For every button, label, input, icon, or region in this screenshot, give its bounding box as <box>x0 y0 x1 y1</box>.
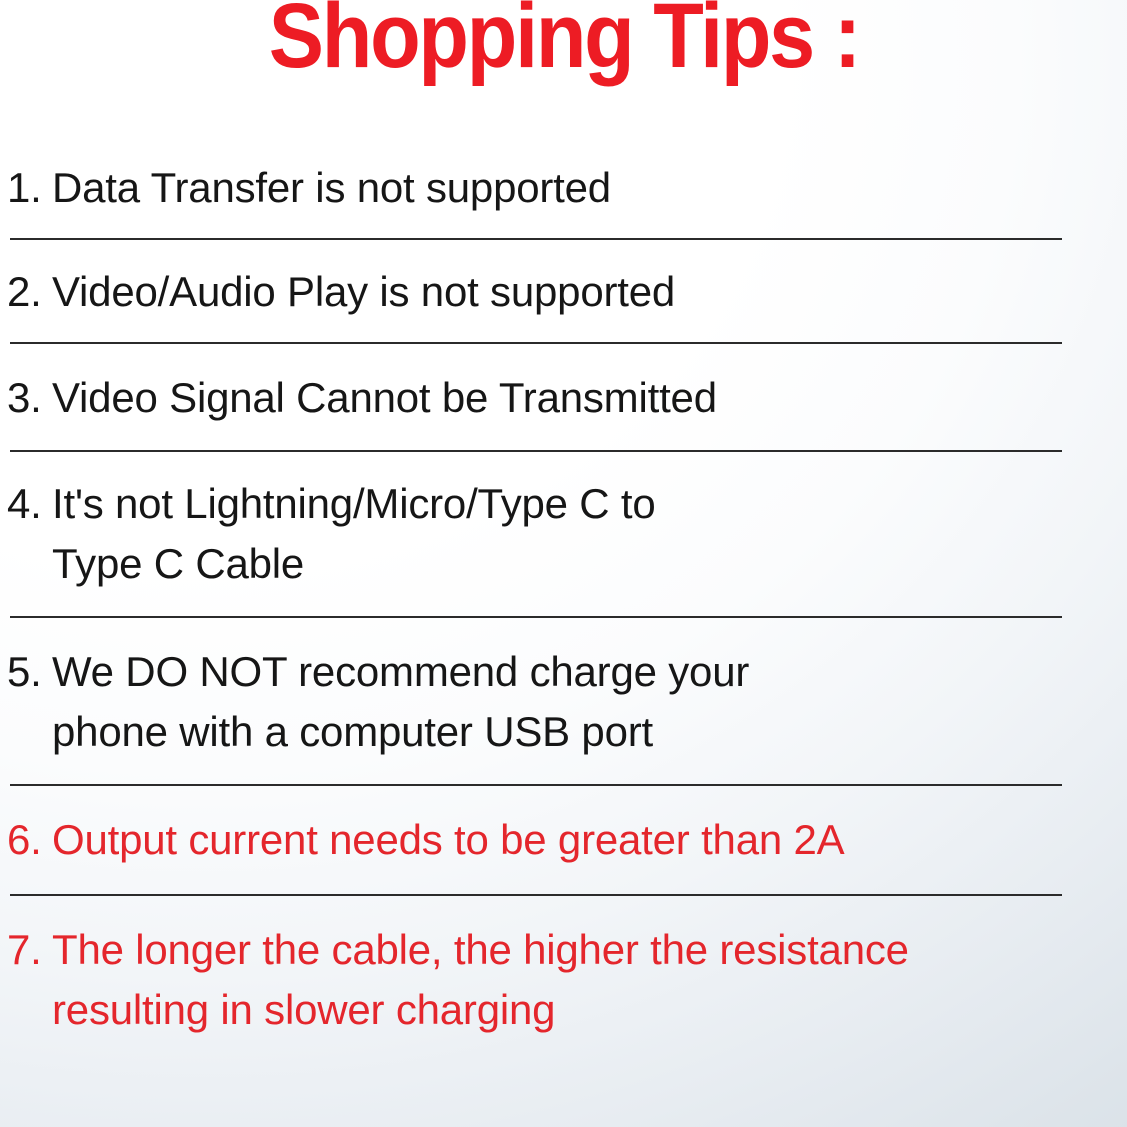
tip-line-continued: phone with a computer USB port <box>7 702 1127 762</box>
tip-body: 2. Video/Audio Play is not supported <box>7 240 1127 342</box>
tip-line: 6. Output current needs to be greater th… <box>7 810 1127 870</box>
page-title: Shopping Tips : <box>0 0 1127 82</box>
tip-text: phone with a computer USB port <box>52 702 653 762</box>
tip-number: 2. <box>7 262 52 322</box>
tip-line: 4. It's not Lightning/Micro/Type C to <box>7 474 1127 534</box>
tip-number: 6. <box>7 810 52 870</box>
tip-line: 5. We DO NOT recommend charge your <box>7 642 1127 702</box>
tip-body: 7. The longer the cable, the higher the … <box>7 896 1127 1064</box>
list-item: 2. Video/Audio Play is not supported <box>0 240 1127 344</box>
tip-number: 7. <box>7 920 52 980</box>
tip-text: Video/Audio Play is not supported <box>52 262 675 322</box>
tip-line-continued: resulting in slower charging <box>7 980 1127 1040</box>
tip-text: Data Transfer is not supported <box>52 158 611 218</box>
tip-line: 3. Video Signal Cannot be Transmitted <box>7 368 1127 428</box>
tip-number: 4. <box>7 474 52 534</box>
list-item: 5. We DO NOT recommend charge your phone… <box>0 618 1127 786</box>
tip-body: 5. We DO NOT recommend charge your phone… <box>7 618 1127 784</box>
tip-text: Video Signal Cannot be Transmitted <box>52 368 717 428</box>
tip-text: Type C Cable <box>52 534 304 594</box>
list-item: 3. Video Signal Cannot be Transmitted <box>0 344 1127 452</box>
list-item: 4. It's not Lightning/Micro/Type C to Ty… <box>0 452 1127 618</box>
tip-text: We DO NOT recommend charge your <box>52 642 749 702</box>
tip-text: Output current needs to be greater than … <box>52 810 844 870</box>
shopping-tips-card: Shopping Tips : 1. Data Transfer is not … <box>0 0 1127 1127</box>
list-item-highlighted: 6. Output current needs to be greater th… <box>0 786 1127 896</box>
tip-line: 1. Data Transfer is not supported <box>7 158 1127 218</box>
tip-number: 3. <box>7 368 52 428</box>
tip-line: 7. The longer the cable, the higher the … <box>7 920 1127 980</box>
tip-line: 2. Video/Audio Play is not supported <box>7 262 1127 322</box>
tips-list: 1. Data Transfer is not supported 2. Vid… <box>0 148 1127 1064</box>
tip-body: 4. It's not Lightning/Micro/Type C to Ty… <box>7 452 1127 616</box>
tip-body: 6. Output current needs to be greater th… <box>7 786 1127 894</box>
tip-text: resulting in slower charging <box>52 980 555 1040</box>
tip-line-continued: Type C Cable <box>7 534 1127 594</box>
page-title-text: Shopping Tips : <box>268 0 858 82</box>
list-item-highlighted: 7. The longer the cable, the higher the … <box>0 896 1127 1064</box>
tip-number: 5. <box>7 642 52 702</box>
tip-text: It's not Lightning/Micro/Type C to <box>52 474 656 534</box>
list-item: 1. Data Transfer is not supported <box>0 148 1127 240</box>
tip-text: The longer the cable, the higher the res… <box>52 920 909 980</box>
tip-body: 1. Data Transfer is not supported <box>7 148 1127 238</box>
tip-number: 1. <box>7 158 52 218</box>
tip-body: 3. Video Signal Cannot be Transmitted <box>7 344 1127 450</box>
